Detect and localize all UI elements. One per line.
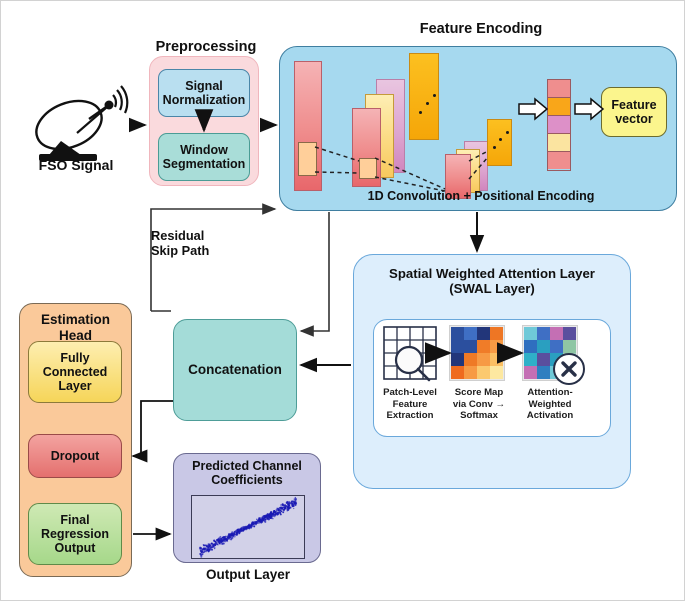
fv-seg: [548, 98, 570, 116]
output-layer-caption: Output Layer: [177, 567, 319, 583]
fully-connected-layer-block[interactable]: FullyConnectedLayer: [28, 341, 122, 403]
final-regression-output-block[interactable]: FinalRegressionOutput: [28, 503, 122, 565]
ellipsis-dot: [426, 102, 429, 105]
swal-stage-2-caption: Score Mapvia Conv →Softmax: [446, 387, 512, 422]
signal-normalization-block[interactable]: SignalNormalization: [158, 69, 250, 117]
fv-seg: [548, 116, 570, 134]
conv-kernel-stage1: [359, 158, 377, 179]
ellipsis-dot: [419, 111, 422, 114]
ellipsis-dot: [433, 94, 436, 97]
architecture-diagram: FSO Signal Preprocessing SignalNormaliza…: [0, 0, 685, 601]
feature-vector-label: Featurevector: [602, 88, 666, 136]
residual-skip-path-label: ResidualSkip Path: [151, 229, 271, 258]
fully-connected-layer-label: FullyConnectedLayer: [29, 342, 121, 402]
window-segmentation-block[interactable]: WindowSegmentation: [158, 133, 250, 181]
swal-title: Spatial Weighted Attention Layer(SWAL La…: [359, 266, 625, 296]
predicted-channel-coefficients-title: Predicted ChannelCoefficients: [177, 459, 317, 488]
ellipsis-dot: [499, 138, 502, 141]
concatenation-label: Concatenation: [174, 320, 296, 420]
signal-normalization-label: SignalNormalization: [159, 70, 249, 116]
final-regression-output-label: FinalRegressionOutput: [29, 504, 121, 564]
dropout-block[interactable]: Dropout: [28, 434, 122, 478]
estimation-head-title: EstimationHead: [21, 312, 130, 343]
conv-bar-small-orange: [487, 119, 512, 166]
swal-stage-1-caption: Patch-LevelFeatureExtraction: [379, 387, 441, 422]
swal-stage-3-caption: Attention-WeightedActivation: [517, 387, 583, 422]
fv-seg: [548, 80, 570, 98]
conv-kernel-input: [298, 142, 317, 176]
preprocessing-title: Preprocessing: [136, 39, 276, 56]
dropout-label: Dropout: [29, 435, 121, 477]
fso-signal-label: FSO Signal: [21, 157, 131, 173]
feature-vector-column: [547, 79, 571, 171]
ellipsis-dot: [506, 131, 509, 134]
fv-seg: [548, 152, 570, 169]
feature-vector-box[interactable]: Featurevector: [601, 87, 667, 137]
ellipsis-dot: [493, 146, 496, 149]
window-segmentation-label: WindowSegmentation: [159, 134, 249, 180]
predicted-coefficients-scatter-plot: [191, 495, 305, 559]
concatenation-block[interactable]: Concatenation: [173, 319, 297, 421]
feature-encoding-title: Feature Encoding: [401, 21, 561, 38]
feature-encoding-caption: 1D Convolution + Positional Encoding: [331, 189, 631, 203]
fv-seg: [548, 134, 570, 152]
